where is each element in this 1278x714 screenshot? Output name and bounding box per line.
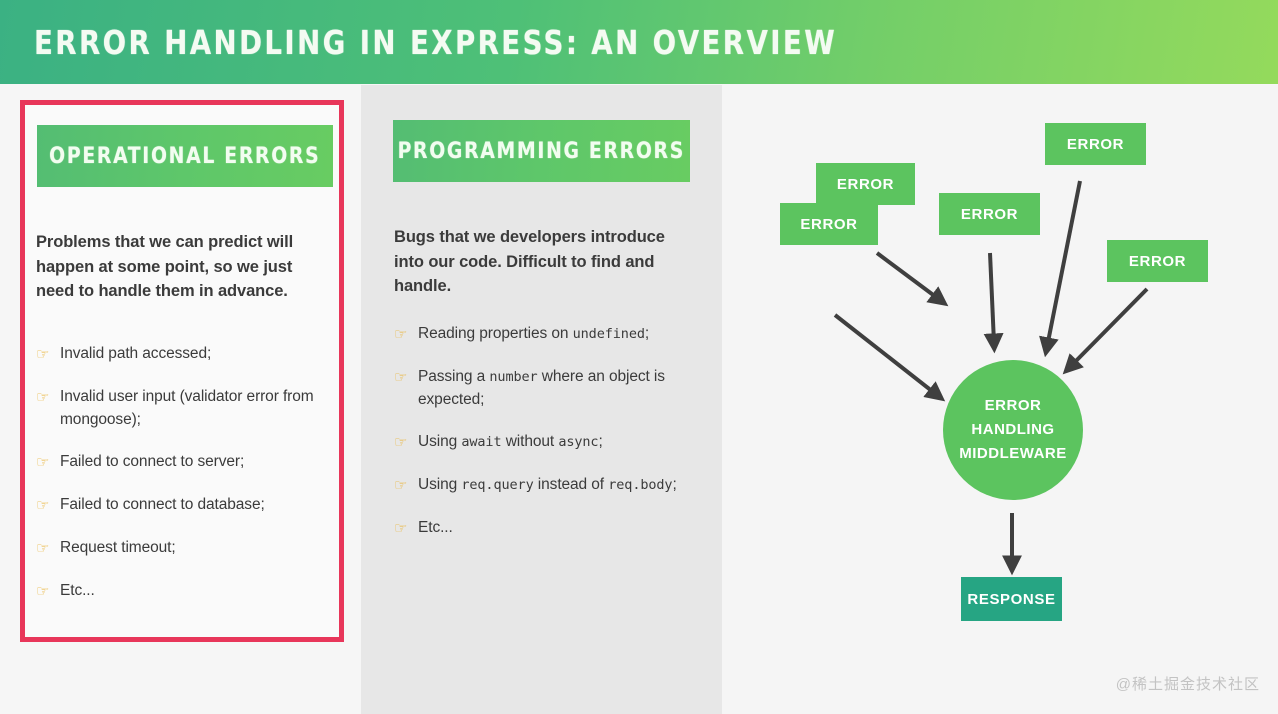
- error-node-label: ERROR: [961, 206, 1018, 223]
- list-item: ☞Request timeout;: [36, 537, 336, 560]
- slide-canvas: ERROR HANDLING IN EXPRESS: AN OVERVIEW O…: [0, 0, 1278, 714]
- list-item-label: Reading properties on undefined;: [418, 323, 649, 346]
- middleware-line-1: ERROR: [985, 394, 1042, 418]
- programming-errors-title: PROGRAMMING ERRORS: [398, 139, 685, 164]
- operational-errors-intro: Problems that we can predict will happen…: [36, 230, 331, 304]
- pointing-hand-icon: ☞: [394, 323, 418, 346]
- code-token: undefined: [573, 326, 645, 342]
- programming-errors-list: ☞Reading properties on undefined;☞Passin…: [394, 323, 694, 560]
- response-label: RESPONSE: [967, 591, 1055, 608]
- error-node-label: ERROR: [1067, 136, 1124, 153]
- pointing-hand-icon: ☞: [36, 343, 60, 366]
- operational-errors-list: ☞Invalid path accessed;☞Invalid user inp…: [36, 343, 336, 623]
- page-title: ERROR HANDLING IN EXPRESS: AN OVERVIEW: [34, 23, 837, 62]
- list-item-label: Failed to connect to server;: [60, 451, 244, 474]
- operational-errors-card: OPERATIONAL ERRORS Problems that we can …: [20, 100, 344, 642]
- arrow-from-error-2: [877, 253, 940, 300]
- list-item-label: Invalid user input (validator error from…: [60, 386, 336, 431]
- list-item-label: Failed to connect to database;: [60, 494, 265, 517]
- error-node-label: ERROR: [1129, 253, 1186, 270]
- list-item-label: Invalid path accessed;: [60, 343, 211, 366]
- code-token: await: [461, 434, 501, 450]
- list-item: ☞Failed to connect to server;: [36, 451, 336, 474]
- error-node-label: ERROR: [837, 176, 894, 193]
- pointing-hand-icon: ☞: [36, 386, 60, 409]
- programming-errors-intro: Bugs that we developers introduce into o…: [394, 225, 684, 299]
- code-token: async: [558, 434, 598, 450]
- list-item: ☞Passing a number where an object is exp…: [394, 366, 694, 411]
- pointing-hand-icon: ☞: [394, 474, 418, 497]
- watermark: @稀土掘金技术社区: [1116, 673, 1260, 694]
- list-item: ☞Etc...: [394, 517, 694, 540]
- middleware-line-3: MIDDLEWARE: [959, 442, 1067, 466]
- slide-header: ERROR HANDLING IN EXPRESS: AN OVERVIEW: [0, 0, 1278, 84]
- error-node: ERROR: [1107, 240, 1208, 282]
- pointing-hand-icon: ☞: [36, 494, 60, 517]
- list-item: ☞Invalid path accessed;: [36, 343, 336, 366]
- code-token: req.query: [461, 477, 533, 493]
- code-token: number: [489, 369, 537, 385]
- list-item-label: Request timeout;: [60, 537, 176, 560]
- list-item-label: Etc...: [418, 517, 453, 540]
- error-node: ERROR: [780, 203, 878, 245]
- list-item: ☞Using req.query instead of req.body;: [394, 474, 694, 497]
- error-node: ERROR: [1045, 123, 1146, 165]
- arrow-from-error-4: [1047, 181, 1080, 347]
- programming-errors-card: PROGRAMMING ERRORS Bugs that we develope…: [361, 85, 722, 714]
- list-item: ☞Failed to connect to database;: [36, 494, 336, 517]
- pointing-hand-icon: ☞: [36, 451, 60, 474]
- middleware-line-2: HANDLING: [971, 418, 1054, 442]
- list-item-label: Using req.query instead of req.body;: [418, 474, 677, 497]
- error-node: ERROR: [816, 163, 915, 205]
- arrow-from-error-1: [835, 315, 937, 395]
- list-item: ☞Etc...: [36, 580, 336, 603]
- error-node: ERROR: [939, 193, 1040, 235]
- list-item-label: Passing a number where an object is expe…: [418, 366, 694, 411]
- pointing-hand-icon: ☞: [394, 517, 418, 540]
- list-item: ☞Using await without async;: [394, 431, 694, 454]
- list-item-label: Etc...: [60, 580, 95, 603]
- list-item: ☞Reading properties on undefined;: [394, 323, 694, 346]
- error-flow-diagram: ERROR HANDLING MIDDLEWARE RESPONSE ERROR…: [722, 85, 1278, 714]
- arrow-from-error-5: [1070, 289, 1147, 367]
- programming-errors-header: PROGRAMMING ERRORS: [393, 120, 690, 182]
- pointing-hand-icon: ☞: [394, 366, 418, 389]
- list-item-label: Using await without async;: [418, 431, 603, 454]
- operational-errors-header: OPERATIONAL ERRORS: [37, 125, 333, 187]
- pointing-hand-icon: ☞: [36, 580, 60, 603]
- error-node-label: ERROR: [800, 216, 857, 233]
- pointing-hand-icon: ☞: [394, 431, 418, 454]
- response-node: RESPONSE: [961, 577, 1062, 621]
- arrow-from-error-3: [990, 253, 994, 343]
- code-token: req.body: [608, 477, 672, 493]
- list-item: ☞Invalid user input (validator error fro…: [36, 386, 336, 431]
- error-handling-middleware-node: ERROR HANDLING MIDDLEWARE: [943, 360, 1083, 500]
- pointing-hand-icon: ☞: [36, 537, 60, 560]
- operational-errors-title: OPERATIONAL ERRORS: [49, 144, 320, 169]
